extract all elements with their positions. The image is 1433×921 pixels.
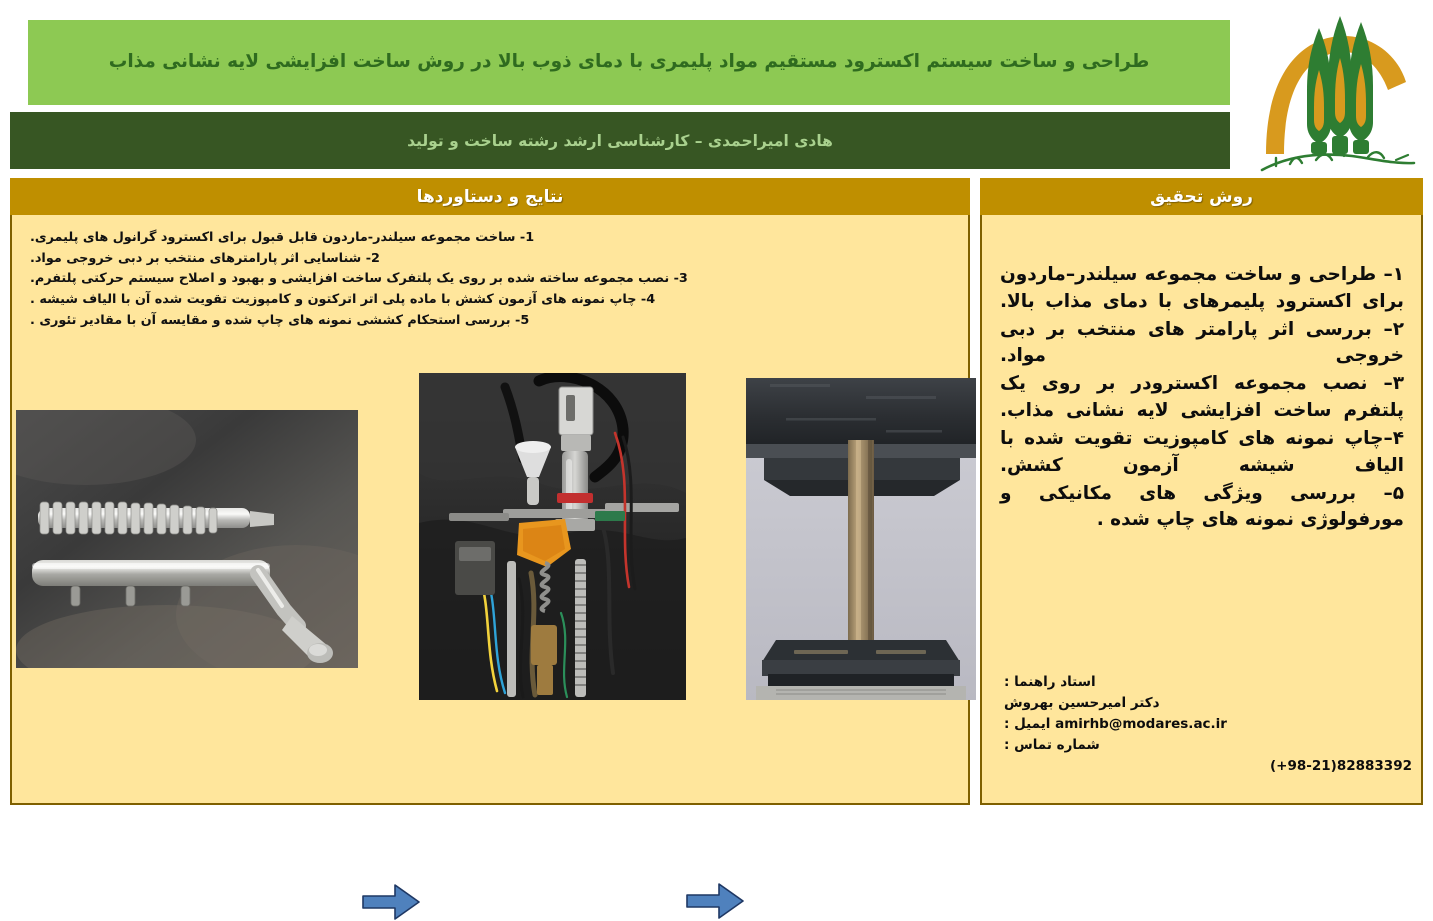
extruder-screw-and-barrel-photo bbox=[16, 410, 358, 668]
process-photo-row bbox=[10, 370, 970, 700]
tarbiat-modares-university-logo bbox=[1248, 6, 1428, 178]
results-panel-header: نتایج و دستاوردها bbox=[10, 178, 970, 215]
phone-value: (+98-21)82883392 bbox=[1004, 756, 1412, 777]
list-item: ۴–چاپ نمونه های کامپوزیت تقویت شده با ال… bbox=[1000, 426, 1404, 480]
tensile-test-specimen-photo bbox=[746, 378, 976, 700]
author-line: هادی امیراحمدی – کارشناسی ارشد رشته ساخت… bbox=[407, 132, 833, 150]
email-value: amirhb@modares.ac.ir bbox=[1055, 716, 1227, 732]
results-list: 1- ساخت مجموعه سیلندر-ماردون قابل قبول ب… bbox=[20, 228, 970, 332]
method-list: ۱– طراحی و ساخت مجموعه سیلندر–ماردون برا… bbox=[992, 262, 1412, 535]
supervisor-label: استاد راهنما : bbox=[1004, 672, 1412, 693]
list-item: ۵– بررسی ویژگی های مکانیکی و مورفولوژی ن… bbox=[1000, 481, 1404, 535]
list-item: 2- شناسایی اثر پارامترهای منتخب بر دبی خ… bbox=[30, 249, 970, 270]
phone-label: شماره تماس : bbox=[1004, 735, 1412, 756]
list-item: ۲– بررسی اثر پارامتر های منتخب بر دبی خر… bbox=[1000, 317, 1404, 371]
method-panel-header: روش تحقیق bbox=[980, 178, 1423, 215]
contact-block: استاد راهنما : دکتر امیرحسین بهروش amirh… bbox=[992, 672, 1412, 777]
right-arrow-icon bbox=[686, 882, 744, 920]
right-arrow-icon bbox=[362, 883, 420, 921]
fdm-printer-extruder-setup-photo bbox=[419, 373, 686, 700]
method-header-label: روش تحقیق bbox=[1150, 187, 1253, 207]
list-item: 4- چاپ نمونه های آزمون کشش با ماده پلی ا… bbox=[30, 290, 970, 311]
university-logo-icon bbox=[1248, 6, 1428, 178]
supervisor-name: دکتر امیرحسین بهروش bbox=[1004, 693, 1412, 714]
list-item: 3- نصب مجموعه ساخته شده بر روی یک پلتفرک… bbox=[30, 269, 970, 290]
flow-arrow-2 bbox=[686, 882, 744, 920]
poster-title-banner: طراحی و ساخت سیستم اکسترود مستقیم مواد پ… bbox=[28, 20, 1230, 105]
email-row: amirhb@modares.ac.ir ایمیل : bbox=[1004, 714, 1412, 735]
list-item: 1- ساخت مجموعه سیلندر-ماردون قابل قبول ب… bbox=[30, 228, 970, 249]
list-item: ۱– طراحی و ساخت مجموعه سیلندر–ماردون برا… bbox=[1000, 262, 1404, 316]
flow-arrow-1 bbox=[362, 883, 420, 921]
page-title: طراحی و ساخت سیستم اکسترود مستقیم مواد پ… bbox=[109, 50, 1150, 74]
results-header-label: نتایج و دستاوردها bbox=[417, 187, 564, 207]
poster-author-banner: هادی امیراحمدی – کارشناسی ارشد رشته ساخت… bbox=[10, 112, 1230, 169]
list-item: ۳– نصب مجموعه اکسترودر بر روی یک پلتفرم … bbox=[1000, 371, 1404, 425]
email-label: ایمیل : bbox=[1004, 716, 1050, 732]
list-item: 5- بررسی استحکام کششی نمونه های چاپ شده … bbox=[30, 311, 970, 332]
